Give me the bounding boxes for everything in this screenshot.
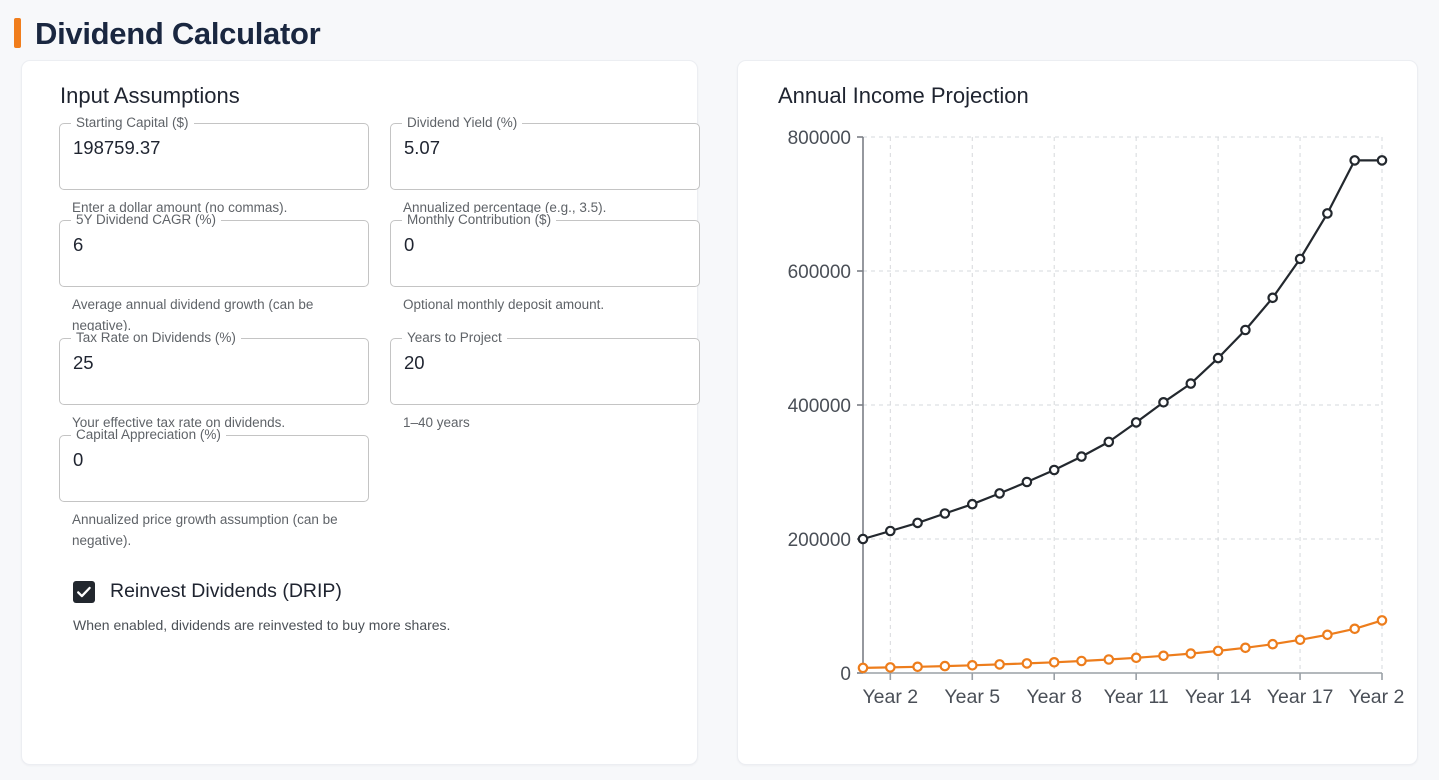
data-point-marker[interactable] [1050, 466, 1058, 474]
data-point-marker[interactable] [1105, 438, 1113, 446]
input-assumptions-heading: Input Assumptions [60, 83, 679, 109]
field-dividend-cagr: 5Y Dividend CAGR (%) Average annual divi… [59, 220, 369, 336]
chart-heading: Annual Income Projection [778, 83, 1401, 109]
tax-rate-input-wrapper[interactable]: Tax Rate on Dividends (%) [59, 338, 369, 405]
data-point-marker[interactable] [1159, 652, 1167, 660]
data-point-marker[interactable] [1269, 640, 1277, 648]
field-years-to-project: Years to Project 1–40 years [390, 338, 700, 433]
input-form-grid: Starting Capital ($) Enter a dollar amou… [40, 123, 679, 553]
field-starting-capital: Starting Capital ($) Enter a dollar amou… [59, 123, 369, 218]
years-to-project-helper: 1–40 years [403, 412, 693, 433]
monthly-contribution-label: Monthly Contribution ($) [402, 213, 556, 227]
y-tick-label: 0 [840, 664, 851, 685]
years-to-project-label: Years to Project [402, 331, 507, 345]
dividend-yield-label: Dividend Yield (%) [402, 116, 522, 130]
field-spacer [390, 435, 700, 551]
data-point-marker[interactable] [1214, 354, 1222, 362]
x-tick-label: Year 2 [862, 686, 918, 708]
data-point-marker[interactable] [1351, 156, 1359, 164]
data-point-marker[interactable] [941, 509, 949, 517]
data-point-marker[interactable] [1050, 658, 1058, 666]
monthly-contribution-input[interactable] [404, 234, 686, 256]
x-tick-label: Year 20 [1349, 686, 1405, 708]
starting-capital-label: Starting Capital ($) [71, 116, 194, 130]
capital-appreciation-label: Capital Appreciation (%) [71, 428, 226, 442]
data-point-marker[interactable] [1023, 478, 1031, 486]
field-tax-rate: Tax Rate on Dividends (%) Your effective… [59, 338, 369, 433]
x-tick-label: Year 5 [944, 686, 1000, 708]
dividend-cagr-input[interactable] [73, 234, 355, 256]
x-tick-label: Year 17 [1267, 686, 1334, 708]
data-point-marker[interactable] [1187, 649, 1195, 657]
data-point-marker[interactable] [886, 527, 894, 535]
data-point-marker[interactable] [995, 489, 1003, 497]
data-point-marker[interactable] [1269, 294, 1277, 302]
data-point-marker[interactable] [1296, 636, 1304, 644]
data-point-marker[interactable] [1105, 655, 1113, 663]
drip-helper: When enabled, dividends are reinvested t… [73, 617, 679, 633]
annual-income-projection-panel: Annual Income Projection 020000040000060… [737, 60, 1418, 765]
dividend-yield-input[interactable] [404, 137, 686, 159]
drip-checkbox[interactable] [73, 581, 95, 603]
tax-rate-label: Tax Rate on Dividends (%) [71, 331, 241, 345]
accent-bar [14, 18, 21, 48]
x-tick-label: Year 11 [1104, 686, 1169, 708]
monthly-contribution-helper: Optional monthly deposit amount. [403, 294, 693, 315]
input-assumptions-panel: Input Assumptions Starting Capital ($) E… [21, 60, 698, 765]
data-point-marker[interactable] [1077, 452, 1085, 460]
page-title: Dividend Calculator [35, 18, 320, 49]
years-to-project-input-wrapper[interactable]: Years to Project [390, 338, 700, 405]
field-monthly-contribution: Monthly Contribution ($) Optional monthl… [390, 220, 700, 336]
tax-rate-input[interactable] [73, 352, 355, 374]
data-point-marker[interactable] [1214, 647, 1222, 655]
data-point-marker[interactable] [1323, 209, 1331, 217]
series-line [863, 160, 1382, 539]
data-point-marker[interactable] [859, 664, 867, 672]
data-point-marker[interactable] [1077, 657, 1085, 665]
data-point-marker[interactable] [1187, 379, 1195, 387]
y-tick-label: 800000 [788, 128, 851, 149]
field-capital-appreciation: Capital Appreciation (%) Annualized pric… [59, 435, 369, 551]
checkmark-icon [75, 583, 93, 601]
data-point-marker[interactable] [913, 519, 921, 527]
dividend-cagr-input-wrapper[interactable]: 5Y Dividend CAGR (%) [59, 220, 369, 287]
data-point-marker[interactable] [886, 663, 894, 671]
capital-appreciation-helper: Annualized price growth assumption (can … [72, 509, 362, 551]
data-point-marker[interactable] [1241, 326, 1249, 334]
data-point-marker[interactable] [1132, 418, 1140, 426]
data-point-marker[interactable] [1241, 644, 1249, 652]
data-point-marker[interactable] [1323, 631, 1331, 639]
data-point-marker[interactable] [1132, 654, 1140, 662]
data-point-marker[interactable] [968, 500, 976, 508]
drip-checkbox-row[interactable]: Reinvest Dividends (DRIP) [73, 580, 679, 603]
data-point-marker[interactable] [1378, 156, 1386, 164]
field-dividend-yield: Dividend Yield (%) Annualized percentage… [390, 123, 700, 218]
chart-container: 0200000400000600000800000Year 2Year 5Yea… [760, 115, 1405, 715]
data-point-marker[interactable] [1159, 398, 1167, 406]
data-point-marker[interactable] [1296, 255, 1304, 263]
capital-appreciation-input[interactable] [73, 449, 355, 471]
y-tick-label: 200000 [788, 530, 851, 551]
data-point-marker[interactable] [1378, 616, 1386, 624]
page-header: Dividend Calculator [0, 0, 1439, 56]
y-tick-label: 600000 [788, 262, 851, 283]
data-point-marker[interactable] [968, 661, 976, 669]
data-point-marker[interactable] [1023, 659, 1031, 667]
starting-capital-input-wrapper[interactable]: Starting Capital ($) [59, 123, 369, 190]
monthly-contribution-input-wrapper[interactable]: Monthly Contribution ($) [390, 220, 700, 287]
drip-label: Reinvest Dividends (DRIP) [110, 580, 342, 603]
capital-appreciation-input-wrapper[interactable]: Capital Appreciation (%) [59, 435, 369, 502]
data-point-marker[interactable] [995, 660, 1003, 668]
data-point-marker[interactable] [1351, 625, 1359, 633]
series-line [863, 620, 1382, 668]
main-columns: Input Assumptions Starting Capital ($) E… [0, 56, 1439, 765]
starting-capital-input[interactable] [73, 137, 355, 159]
data-point-marker[interactable] [941, 662, 949, 670]
x-tick-label: Year 14 [1185, 686, 1252, 708]
data-point-marker[interactable] [859, 535, 867, 543]
dividend-yield-input-wrapper[interactable]: Dividend Yield (%) [390, 123, 700, 190]
annual-income-projection-chart[interactable]: 0200000400000600000800000Year 2Year 5Yea… [760, 115, 1405, 715]
x-tick-label: Year 8 [1026, 686, 1082, 708]
years-to-project-input[interactable] [404, 352, 686, 374]
data-point-marker[interactable] [913, 663, 921, 671]
dividend-cagr-label: 5Y Dividend CAGR (%) [71, 213, 221, 227]
y-tick-label: 400000 [788, 396, 851, 417]
